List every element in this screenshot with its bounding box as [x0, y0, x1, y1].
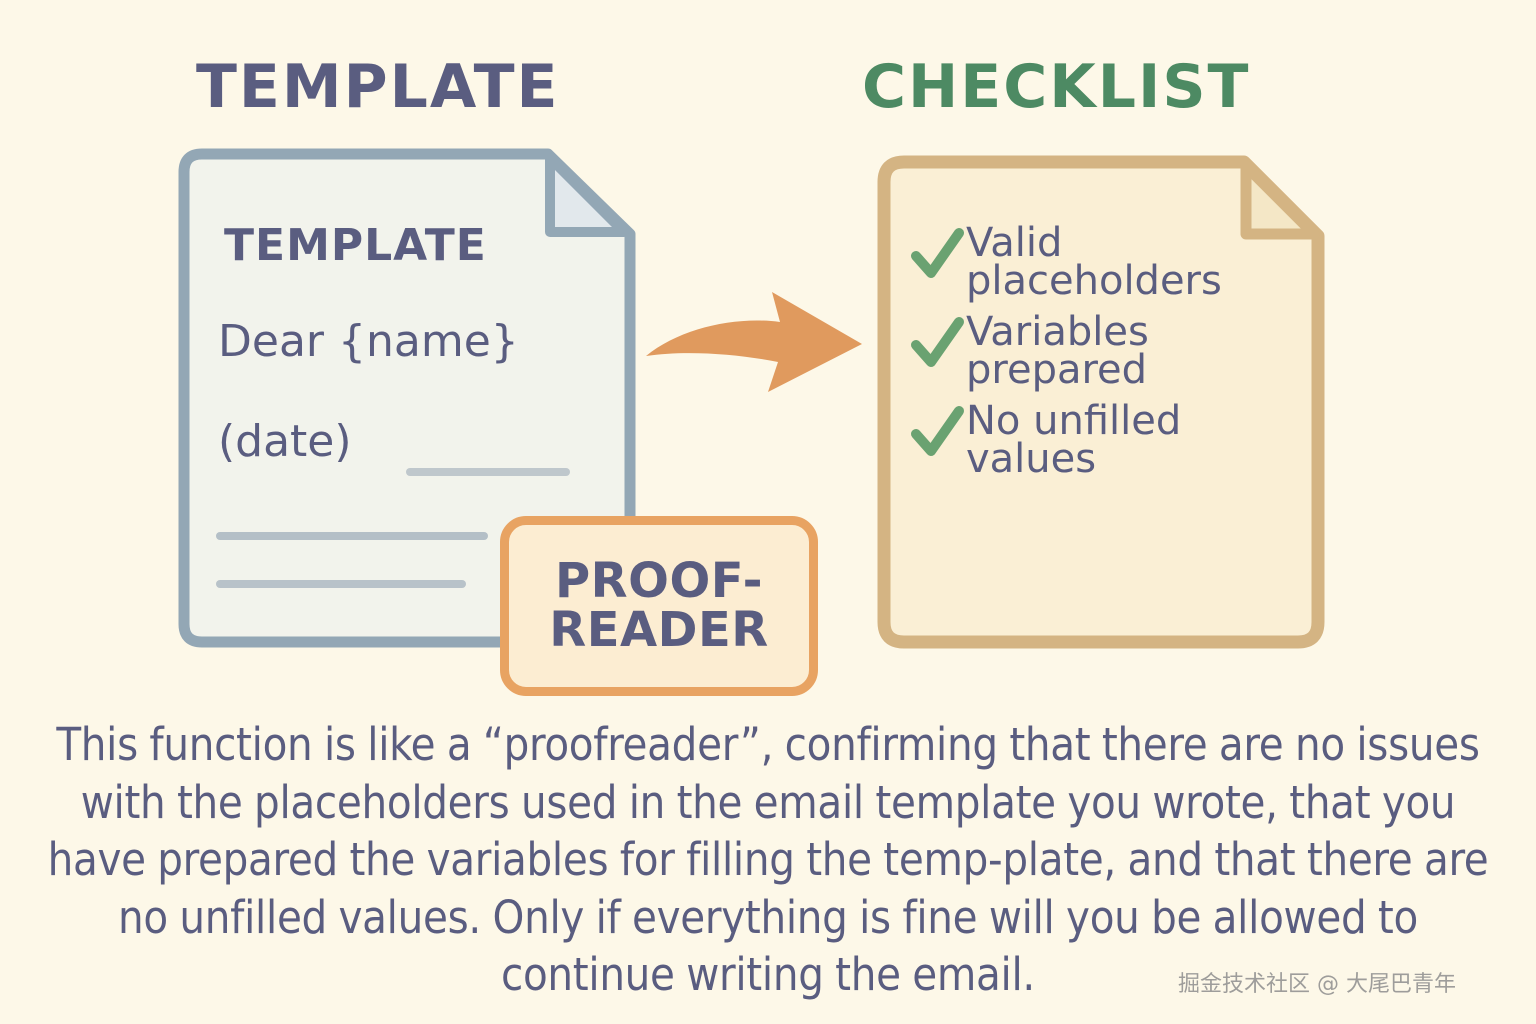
check-icon: [908, 315, 966, 373]
check-icon: [908, 404, 966, 462]
document-rule-line: [406, 468, 570, 476]
watermark: 掘金技术社区 @ 大尾巴青年: [1178, 966, 1456, 998]
document-rule-line: [216, 580, 466, 588]
curved-arrow-right-icon: [640, 288, 870, 398]
proofreader-badge[interactable]: PROOF- READER: [500, 516, 818, 696]
document-rule-line: [216, 532, 488, 540]
checklist-item-label: Variables prepared: [966, 311, 1149, 390]
template-heading: TEMPLATE: [196, 52, 560, 122]
caption-paragraph: This function is like a “proofreader”, c…: [40, 716, 1496, 1004]
illustration-canvas: TEMPLATE CHECKLIST TEMPLATE Dear {name} …: [0, 0, 1536, 1024]
checklist-card: Valid placeholders Variables prepared No…: [874, 154, 1326, 650]
checklist-heading: CHECKLIST: [862, 52, 1250, 122]
proofreader-badge-label: PROOF- READER: [549, 557, 769, 655]
checklist-item[interactable]: Valid placeholders: [908, 222, 1318, 301]
checklist-item[interactable]: No unfilled values: [908, 400, 1318, 479]
checklist-item[interactable]: Variables prepared: [908, 311, 1318, 390]
template-placeholder-name: Dear {name}: [218, 316, 519, 367]
template-placeholder-date: (date): [218, 416, 352, 467]
template-card-title: TEMPLATE: [224, 220, 487, 271]
checklist-item-list: Valid placeholders Variables prepared No…: [908, 222, 1318, 488]
check-icon: [908, 226, 966, 284]
checklist-item-label: Valid placeholders: [966, 222, 1222, 301]
checklist-item-label: No unfilled values: [966, 400, 1181, 479]
